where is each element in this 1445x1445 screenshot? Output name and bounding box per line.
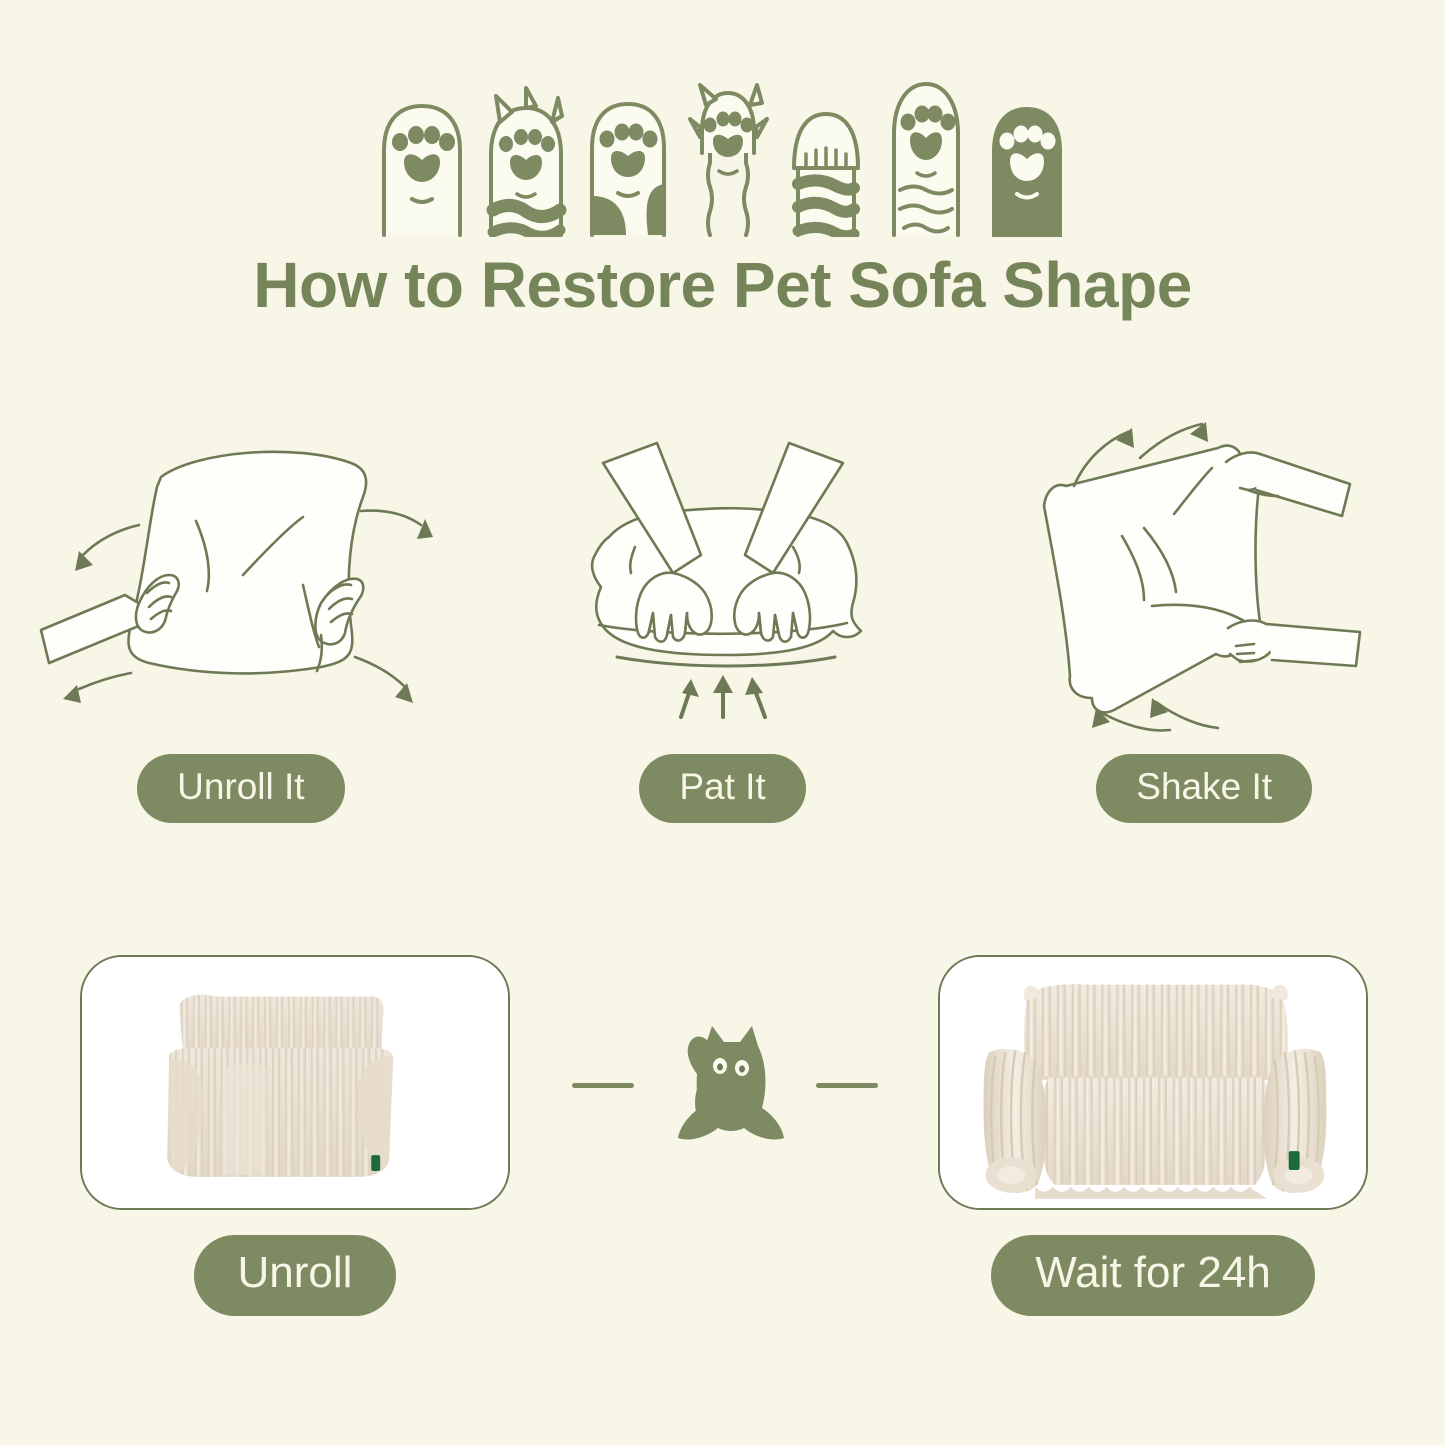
before-photo-card[interactable] bbox=[80, 955, 510, 1210]
paw-3-patched-icon bbox=[582, 92, 674, 237]
hands-stretching-cushion-icon bbox=[21, 425, 461, 725]
paw-5-zebra-icon bbox=[782, 92, 870, 237]
paw-4-fluffy-icon bbox=[682, 79, 774, 237]
paw-2-striped-icon bbox=[478, 82, 574, 237]
before-label-wrap: Unroll bbox=[80, 1235, 510, 1316]
after-label-wrap: Wait for 24h bbox=[938, 1235, 1368, 1316]
step-pat-it: Pat It bbox=[482, 410, 964, 840]
before-label-unroll: Unroll bbox=[194, 1235, 397, 1316]
step-pat-it-illustration bbox=[553, 410, 893, 740]
restored-pet-sofa-photo bbox=[940, 957, 1366, 1210]
paw-1-plain-icon bbox=[374, 92, 470, 237]
page-title: How to Restore Pet Sofa Shape bbox=[0, 248, 1445, 322]
step-label-unroll-it: Unroll It bbox=[137, 754, 344, 823]
after-label-wait-24h: Wait for 24h bbox=[991, 1235, 1315, 1316]
hands-patting-cushion-icon bbox=[553, 425, 893, 725]
step-shake-it-illustration bbox=[1004, 410, 1404, 740]
step-label-shake-it: Shake It bbox=[1096, 754, 1312, 823]
after-photo-card[interactable] bbox=[938, 955, 1368, 1210]
sitting-cat-silhouette-icon bbox=[660, 1010, 790, 1160]
step-shake-it: Shake It bbox=[963, 410, 1445, 840]
paw-6-tall-striped-icon bbox=[878, 72, 974, 237]
cat-mascot-divider bbox=[560, 985, 890, 1185]
step-label-pat-it: Pat It bbox=[639, 754, 805, 823]
cat-paws-banner bbox=[0, 72, 1445, 237]
paw-7-solid-icon bbox=[982, 95, 1072, 237]
compressed-pet-bed-photo bbox=[82, 957, 508, 1210]
compare-row: Unroll Wait for 24h bbox=[0, 955, 1445, 1295]
infographic-page: How to Restore Pet Sofa Shape bbox=[0, 0, 1445, 1445]
step-unroll-it-illustration bbox=[21, 410, 461, 740]
divider-dash-right bbox=[816, 1083, 878, 1088]
step-unroll-it: Unroll It bbox=[0, 410, 482, 840]
hands-shaking-cushion-icon bbox=[1004, 410, 1404, 740]
divider-dash-left bbox=[572, 1083, 634, 1088]
steps-row: Unroll It bbox=[0, 410, 1445, 840]
